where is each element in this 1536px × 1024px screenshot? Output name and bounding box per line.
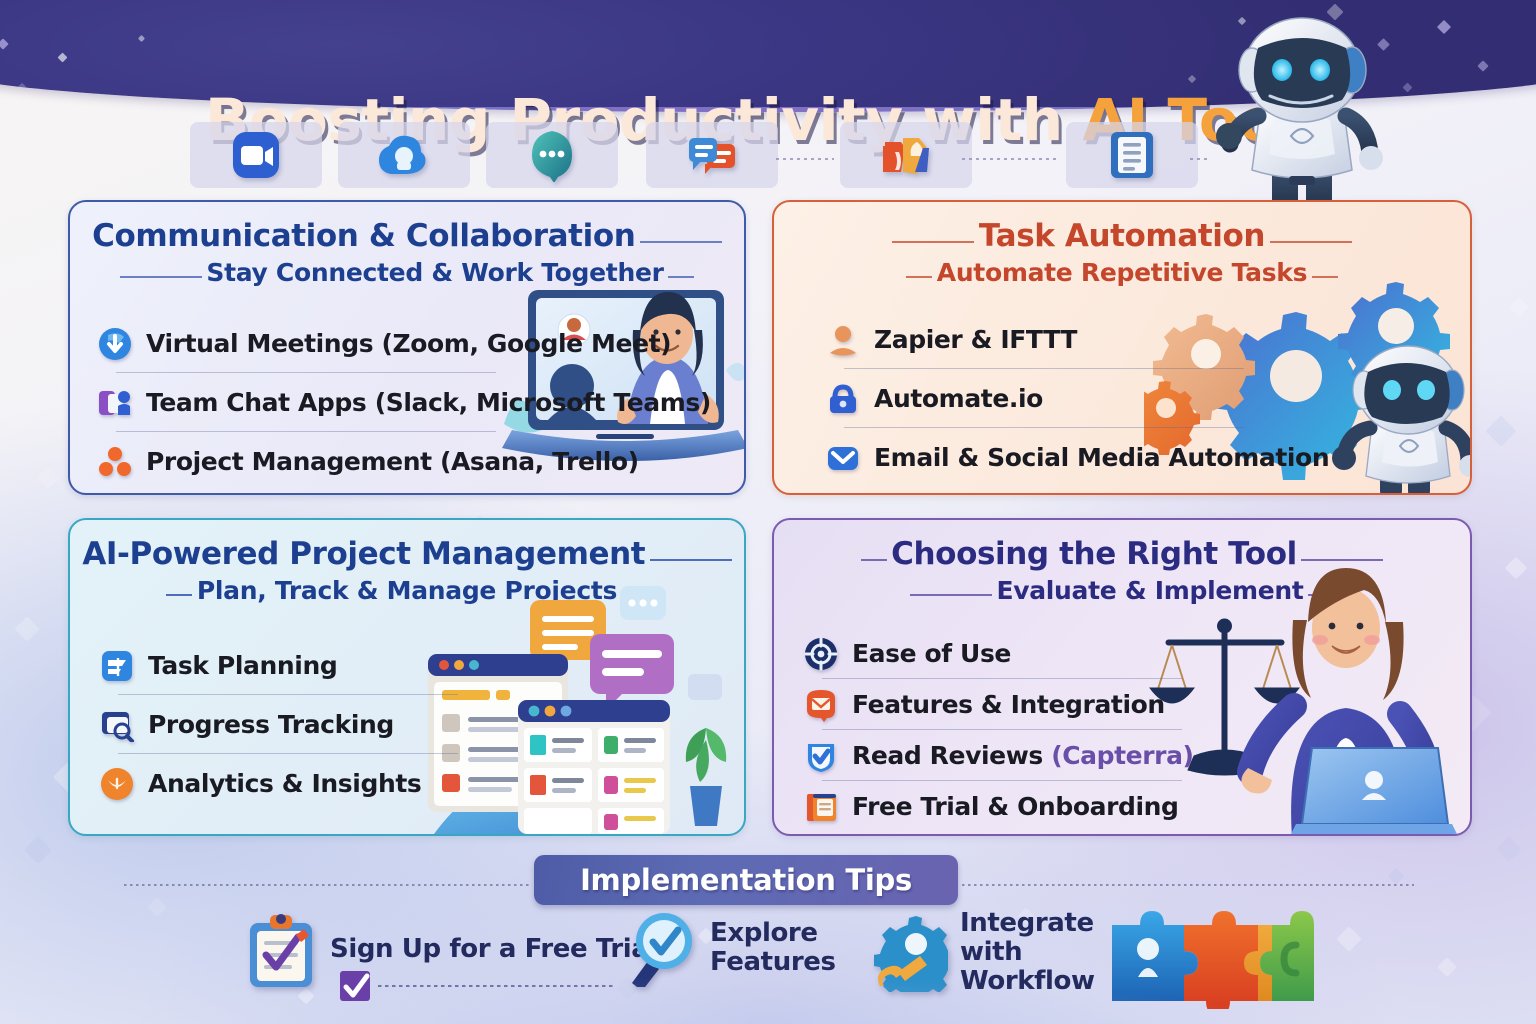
panel-item-list: Zapier & IFTTTAutomate.ioEmail & Social … [826, 310, 1266, 487]
list-item-label: Team Chat Apps (Slack, Microsoft Teams) [146, 388, 711, 417]
gear-wrench-icon [874, 914, 948, 992]
subtitle-rule-right [668, 276, 694, 278]
panel-heading: Task Automation Automate Repetitive Task… [774, 218, 1470, 287]
panel-item-list: Virtual Meetings (Zoom, Google Meet)Team… [98, 314, 518, 491]
tips-dotted-line-right [962, 884, 1414, 886]
list-item-label: Task Planning [148, 651, 337, 680]
list-item[interactable]: Email & Social Media Automation [826, 428, 1266, 487]
video-camera-icon[interactable] [229, 128, 283, 182]
list-item-label: Read Reviews (Capterra) [852, 741, 1194, 770]
panel-task-automation: Task Automation Automate Repetitive Task… [772, 200, 1472, 495]
settings-circle-icon [804, 637, 838, 671]
title-rule-right [1301, 559, 1383, 561]
panel-heading: AI-Powered Project Management Plan, Trac… [70, 536, 744, 605]
panel-title: Communication & Collaboration [92, 218, 635, 254]
tip-sign-up-free-trial[interactable]: Sign Up for a Free Trial [244, 911, 657, 989]
header-star [1477, 60, 1488, 71]
panel-heading: Communication & Collaboration Stay Conne… [70, 218, 744, 287]
subtitle-rule-right [622, 594, 648, 596]
folder-tools-icon[interactable] [879, 128, 933, 182]
subtitle-rule-right [1308, 594, 1334, 596]
title-rule-right [1270, 241, 1352, 243]
envelope-icon [826, 441, 860, 475]
confetti-diamond [1388, 868, 1405, 885]
toolstrip-connector [962, 158, 1058, 160]
panel-title: Task Automation [979, 218, 1265, 254]
list-item-label: Zapier & IFTTT [874, 325, 1077, 354]
header-star [57, 53, 67, 63]
tips-banner-label: Implementation Tips [580, 863, 912, 897]
subtitle-rule-left [166, 594, 192, 596]
panel-title: Choosing the Right Tool [891, 536, 1297, 572]
subtitle-rule-left [906, 276, 932, 278]
list-item[interactable]: Read Reviews (Capterra) [804, 730, 1204, 781]
tip-explore-features[interactable]: Explore Features [624, 909, 885, 987]
subtitle-rule-left [120, 276, 202, 278]
header-star [1187, 75, 1195, 83]
asana-icon [98, 445, 132, 479]
teams-chat-icon [98, 386, 132, 420]
infographic-poster: Boosting Productivity with AI Tools [0, 0, 1536, 1024]
list-item-label: Automate.io [874, 384, 1043, 413]
tip-puzzle-pieces [1108, 905, 1318, 1009]
check-shield-icon [804, 739, 838, 773]
title-rule-left [861, 559, 887, 561]
title-rule-right [650, 559, 732, 561]
confetti-diamond [37, 467, 60, 490]
tip-label: Sign Up for a Free Trial [330, 935, 657, 964]
implementation-tips-banner: Implementation Tips [534, 855, 958, 905]
list-item-label: Analytics & Insights [148, 769, 421, 798]
lock-icon [826, 382, 860, 416]
list-item[interactable]: Analytics & Insights [100, 754, 480, 813]
cloud-storage-icon[interactable] [377, 128, 431, 182]
confetti-diamond [1509, 297, 1529, 317]
mail-badge-icon [804, 688, 838, 722]
subtitle-rule-left [910, 594, 992, 596]
header-star [1436, 20, 1450, 34]
tips-dotted-line-left [124, 884, 530, 886]
list-item[interactable]: Free Trial & Onboarding [804, 781, 1204, 832]
magnifier-check-icon [624, 909, 698, 987]
list-item-label: Email & Social Media Automation [874, 443, 1329, 472]
panel-item-list: Task PlanningProgress TrackingAnalytics … [100, 636, 480, 813]
panel-ai-project-management: AI-Powered Project Management Plan, Trac… [68, 518, 746, 836]
messages-icon[interactable] [685, 128, 739, 182]
chat-bubble-icon[interactable] [525, 128, 579, 182]
panel-communication-collaboration: Communication & Collaboration Stay Conne… [68, 200, 746, 495]
list-item-label: Progress Tracking [148, 710, 394, 739]
list-item[interactable]: Progress Tracking [100, 695, 480, 754]
list-item[interactable]: Project Management (Asana, Trello) [98, 432, 518, 491]
person-icon [826, 323, 860, 357]
list-item[interactable]: Task Planning [100, 636, 480, 695]
toolstrip-connector [776, 158, 834, 160]
document-icon[interactable] [1105, 128, 1159, 182]
clipboard-check-icon [244, 911, 318, 989]
implementation-tips-row: Sign Up for a Free Trial Explore Feature… [0, 905, 1536, 1023]
header-star [1267, 60, 1278, 71]
confetti-diamond [1496, 836, 1521, 861]
panel-subtitle: Automate Repetitive Tasks [937, 258, 1307, 287]
list-item[interactable]: Zapier & IFTTT [826, 310, 1266, 369]
panel-subtitle: Plan, Track & Manage Projects [197, 576, 617, 605]
header-star [1377, 38, 1390, 51]
progress-window-icon [100, 708, 134, 742]
panel-title: AI-Powered Project Management [82, 536, 645, 572]
tool-icon-strip [190, 122, 1210, 194]
puzzle-pieces-icon [1108, 905, 1318, 1009]
confetti-diamond [14, 616, 39, 641]
list-item-label: Virtual Meetings (Zoom, Google Meet) [146, 329, 671, 358]
header-star [0, 38, 8, 49]
list-item-label: Free Trial & Onboarding [852, 792, 1179, 821]
list-item[interactable]: Automate.io [826, 369, 1266, 428]
tip-label: Explore Features [710, 919, 885, 977]
task-board-icon [100, 649, 134, 683]
list-item-label: Project Management (Asana, Trello) [146, 447, 639, 476]
title-rule-left [892, 241, 974, 243]
toolstrip-connector [1190, 158, 1210, 160]
title-rule-right [640, 241, 722, 243]
confetti-diamond [24, 836, 52, 864]
header-star [1326, 4, 1343, 21]
subtitle-rule-right [1312, 276, 1338, 278]
list-item[interactable]: Virtual Meetings (Zoom, Google Meet) [98, 314, 518, 373]
confetti-diamond [1505, 557, 1528, 580]
list-item[interactable]: Team Chat Apps (Slack, Microsoft Teams) [98, 373, 518, 432]
tip-integrate-with-workflow[interactable]: Integrate with Workflow [874, 909, 1135, 996]
list-item-label: Features & Integration [852, 690, 1165, 719]
list-item-label-accent: (Capterra) [1051, 741, 1193, 770]
list-item-label: Ease of Use [852, 639, 1011, 668]
panel-subtitle: Stay Connected & Work Together [206, 258, 663, 287]
header-star [1237, 17, 1245, 25]
confetti-diamond [1485, 415, 1516, 446]
list-item[interactable]: Features & Integration [804, 679, 1204, 730]
panel-subtitle: Evaluate & Implement [996, 576, 1303, 605]
header-star [138, 35, 145, 42]
zoom-download-icon [98, 327, 132, 361]
list-item[interactable]: Ease of Use [804, 628, 1204, 679]
panel-item-list: Ease of UseFeatures & IntegrationRead Re… [804, 628, 1204, 832]
panel-choosing-right-tool: Choosing the Right Tool Evaluate & Imple… [772, 518, 1472, 836]
notebook-icon [804, 790, 838, 824]
panel-heading: Choosing the Right Tool Evaluate & Imple… [774, 536, 1470, 605]
analytics-icon [100, 767, 134, 801]
